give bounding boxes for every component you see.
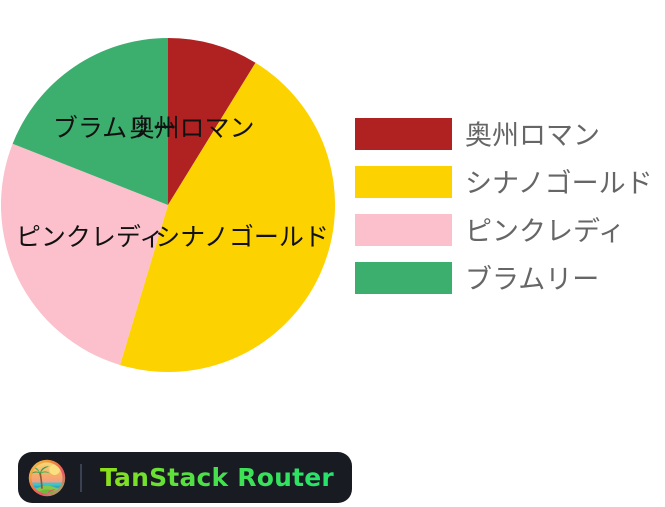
- legend-item-1[interactable]: シナノゴールド: [355, 160, 655, 208]
- legend-swatch-3: [355, 262, 452, 294]
- legend-item-2[interactable]: ピンクレディ: [355, 208, 655, 256]
- legend-swatch-0: [355, 118, 452, 150]
- pie-chart: 奥州ロマン シナノゴールド ピンクレディ ブラムリー 奥州ロマン シナノゴールド…: [0, 0, 665, 400]
- tanstack-palm-island-icon: [28, 459, 66, 497]
- legend-swatch-2: [355, 214, 452, 246]
- tanstack-router-devtools-button[interactable]: TanStack Router: [18, 452, 352, 503]
- legend-item-0[interactable]: 奥州ロマン: [355, 112, 655, 160]
- pie-slice-group: [1, 38, 335, 372]
- legend-item-3[interactable]: ブラムリー: [355, 256, 655, 304]
- legend-label-0: 奥州ロマン: [465, 123, 600, 150]
- legend-label-1: シナノゴールド: [465, 171, 653, 198]
- legend-label-2: ピンクレディ: [465, 219, 625, 246]
- legend-label-3: ブラムリー: [465, 267, 599, 294]
- devtools-title: TanStack Router: [100, 463, 334, 492]
- devtools-divider: [80, 464, 82, 492]
- chart-legend: 奥州ロマン シナノゴールド ピンクレディ ブラムリー: [355, 112, 655, 304]
- legend-swatch-1: [355, 166, 452, 198]
